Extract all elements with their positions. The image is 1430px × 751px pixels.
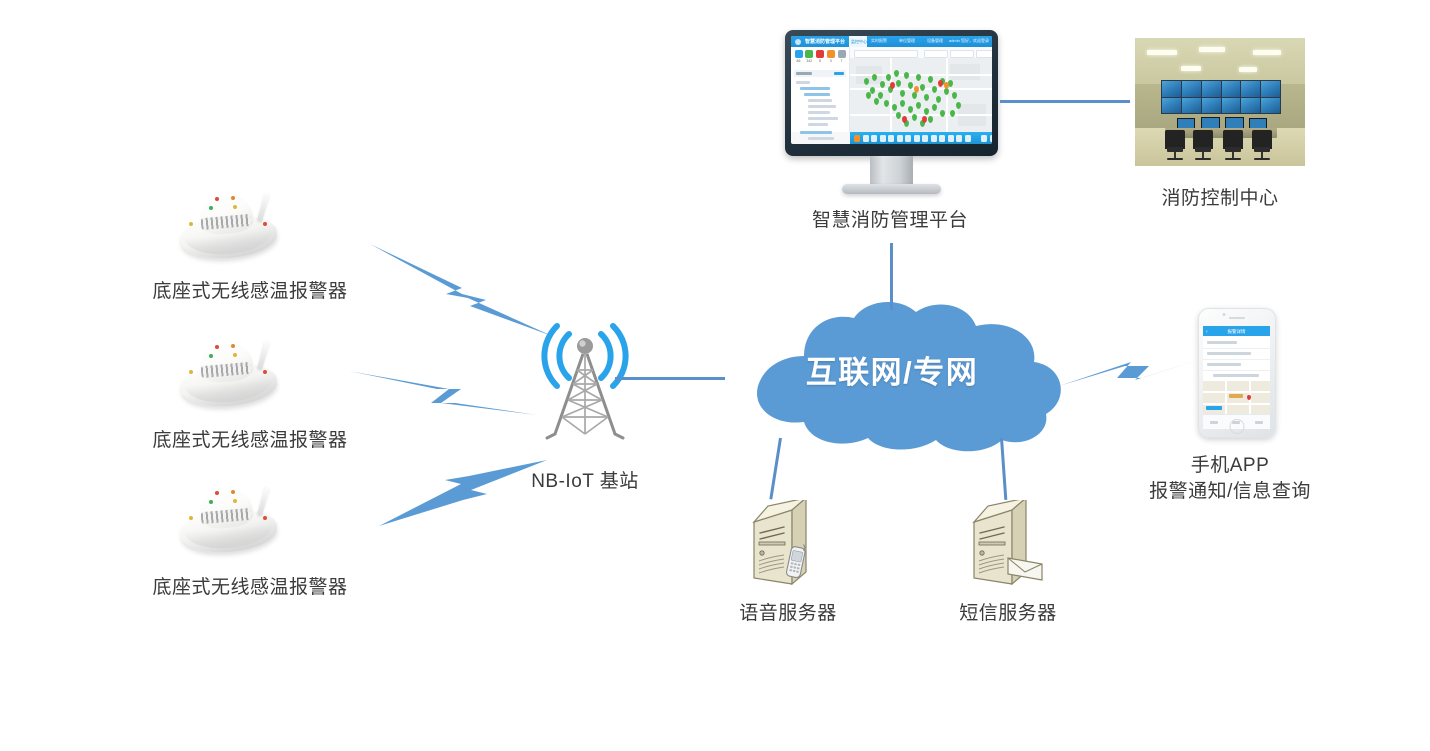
sensor-antenna-icon — [257, 192, 270, 222]
sms-server[interactable] — [968, 500, 1046, 592]
map-pin-normal[interactable] — [866, 92, 871, 99]
platform-stat-4[interactable]: 7 — [837, 50, 846, 66]
dock-icon[interactable] — [914, 135, 920, 142]
video-wall-screen — [1222, 81, 1241, 97]
ceiling-light — [1253, 50, 1281, 55]
chair-base — [1167, 158, 1183, 160]
map-road — [850, 114, 992, 116]
platform-app-title: 智慧消防管理平台 — [805, 38, 845, 45]
chair-back — [1165, 130, 1185, 149]
map-pin-normal[interactable] — [916, 102, 921, 109]
platform-tab-2[interactable]: 设备管理 — [927, 38, 943, 44]
sensor-led-orange — [231, 344, 235, 348]
platform-stat-value-0: 86 — [794, 59, 803, 63]
dock-icon[interactable] — [880, 135, 886, 142]
sensor-led-yellow-2 — [189, 516, 193, 520]
cell-tower-icon — [525, 318, 645, 448]
sensor-led-green — [209, 206, 213, 210]
tree-node[interactable] — [796, 81, 810, 84]
app-header: ‹ 报警详情 — [1203, 326, 1270, 336]
sensor-led-green — [209, 500, 213, 504]
stat-icon-offline — [838, 50, 846, 58]
map-highlight — [1229, 394, 1243, 398]
platform-map[interactable] — [850, 58, 992, 132]
map-pin-normal[interactable] — [932, 86, 937, 93]
video-wall-screen — [1202, 98, 1221, 114]
topology-diagram: 底座式无线感温报警器 底座式无线感温报警器 底座式无线感温报警器 — [0, 0, 1430, 751]
map-info-chip[interactable] — [1206, 406, 1222, 410]
map-pin-normal[interactable] — [936, 96, 941, 103]
phone-speaker — [1229, 317, 1245, 319]
map-pin-normal[interactable] — [908, 106, 913, 113]
app-header-title: 报警详情 — [1203, 329, 1270, 335]
sensor-led-yellow-2 — [189, 222, 193, 226]
voice-server-label: 语音服务器 — [668, 600, 908, 628]
map-pin-normal[interactable] — [892, 104, 897, 111]
office-chair — [1165, 130, 1185, 160]
platform-stat-value-1: 342 — [805, 59, 814, 63]
link-tower-to-cloud — [615, 377, 725, 380]
stat-icon-unit — [795, 50, 803, 58]
tree-node[interactable] — [800, 87, 830, 90]
sensor-antenna-icon — [257, 486, 270, 516]
dock-icon[interactable] — [956, 135, 962, 142]
control-center-label: 消防控制中心 — [1070, 185, 1370, 213]
platform-tab-active[interactable]: 监控中心 — [849, 36, 867, 47]
app-map[interactable] — [1203, 381, 1270, 415]
tree-node[interactable] — [800, 131, 832, 134]
sensor-led-orange — [231, 490, 235, 494]
map-pin-normal[interactable] — [884, 100, 889, 107]
voice-server[interactable] — [748, 500, 826, 592]
office-chair — [1252, 130, 1272, 160]
link-platform-to-control-center — [1000, 100, 1130, 103]
ceiling-light — [1199, 47, 1225, 52]
tree-node[interactable] — [804, 93, 830, 96]
map-road — [890, 58, 892, 132]
row-divider — [1203, 359, 1270, 360]
monitor-neck — [870, 156, 913, 186]
map-pin-normal[interactable] — [900, 100, 905, 107]
ceiling-light — [1239, 67, 1257, 72]
sensor-antenna-icon — [257, 340, 270, 370]
platform-search-input[interactable] — [854, 50, 918, 58]
map-pin-normal[interactable] — [916, 74, 921, 81]
sensor-led-yellow-2 — [189, 370, 193, 374]
monitor-stand — [842, 184, 941, 194]
map-pin-warning[interactable] — [914, 86, 919, 93]
phone-home-button[interactable] — [1230, 419, 1245, 434]
sensor-label-3: 底座式无线感温报警器 — [0, 574, 500, 602]
dock-icon[interactable] — [854, 135, 860, 142]
row-divider — [1203, 370, 1270, 371]
map-pin-normal[interactable] — [896, 112, 901, 119]
voice-server-icon — [748, 500, 826, 592]
stat-icon-alarm — [816, 50, 824, 58]
wireless-link-bolt-4 — [1057, 352, 1207, 400]
video-wall-screen — [1182, 98, 1201, 114]
map-pin-alarm[interactable] — [938, 80, 943, 87]
app-tab-home[interactable] — [1210, 421, 1218, 424]
chair-base — [1225, 158, 1241, 160]
map-pin-normal[interactable] — [928, 76, 933, 83]
dock-icon[interactable] — [939, 135, 945, 142]
internet-cloud[interactable]: 互联网/专网 — [712, 300, 1072, 452]
dock-icon[interactable] — [922, 135, 928, 142]
map-road — [1203, 403, 1270, 405]
platform-filter-2[interactable] — [976, 50, 992, 58]
platform-tree-header — [794, 70, 846, 77]
sensor-led-yellow — [233, 499, 237, 503]
sensor-led-yellow — [233, 205, 237, 209]
sensor-led-yellow — [233, 353, 237, 357]
mobile-phone[interactable]: ‹ 报警详情 — [1198, 308, 1276, 438]
map-pin-alarm[interactable] — [922, 116, 927, 123]
tree-node[interactable] — [808, 111, 830, 114]
chair-base — [1195, 158, 1211, 160]
map-pin-normal[interactable] — [880, 81, 885, 88]
platform-tab-1[interactable]: 单位管理 — [899, 38, 915, 44]
cloud-label: 互联网/专网 — [712, 347, 1072, 392]
video-wall-screen — [1202, 81, 1221, 97]
wireless-link-bolt-2 — [345, 361, 540, 417]
sensor-led-red — [215, 491, 219, 495]
detail-row-1 — [1207, 352, 1251, 355]
office-chair — [1223, 130, 1243, 160]
map-pin-normal[interactable] — [894, 70, 899, 77]
platform-stat-value-2: 5 — [816, 59, 825, 63]
ceiling-light — [1147, 50, 1177, 55]
mobile-label-line1: 手机APP — [1105, 452, 1355, 480]
platform-stat-0[interactable]: 86 — [794, 50, 803, 66]
video-wall — [1161, 80, 1281, 114]
detail-row-2 — [1207, 363, 1241, 366]
dock-icon[interactable] — [981, 135, 987, 142]
map-pin-normal[interactable] — [878, 92, 883, 99]
row-divider — [1203, 348, 1270, 349]
platform-topbar: 智慧消防管理平台 监控中心 实时报警 单位管理 设备管理 统计分析 admin … — [791, 36, 992, 47]
map-pin-normal[interactable] — [924, 94, 929, 101]
control-center-photo[interactable] — [1135, 38, 1305, 166]
chair-base — [1254, 158, 1270, 160]
base-station-tower[interactable] — [525, 318, 645, 448]
platform-filter-0[interactable] — [924, 50, 948, 58]
platform-filter-1[interactable] — [950, 50, 974, 58]
map-pin-normal[interactable] — [944, 88, 949, 95]
sensor-led-green — [209, 354, 213, 358]
stat-icon-device — [805, 50, 813, 58]
platform-stat-2[interactable]: 5 — [816, 50, 825, 66]
dock-icon[interactable] — [863, 135, 869, 142]
sensor-led-red-2 — [263, 516, 267, 520]
base-station-label: NB-IoT 基站 — [455, 468, 715, 496]
map-pin-normal[interactable] — [952, 92, 957, 99]
map-pin-normal[interactable] — [874, 98, 879, 105]
mobile-label-line2: 报警通知/信息查询 — [1105, 478, 1355, 506]
map-pin-normal[interactable] — [900, 90, 905, 97]
map-pin-normal[interactable] — [904, 72, 909, 79]
control-room-scene — [1135, 38, 1305, 166]
tree-node[interactable] — [808, 117, 838, 120]
ceiling-light — [1181, 66, 1201, 71]
office-chair — [1193, 130, 1213, 160]
sensor-device-1[interactable] — [175, 186, 295, 264]
dock-icon[interactable] — [948, 135, 954, 142]
video-wall-screen — [1261, 81, 1280, 97]
map-pin-normal[interactable] — [928, 116, 933, 123]
map-road — [1203, 391, 1270, 393]
map-block — [950, 64, 980, 80]
sensor-led-red — [215, 345, 219, 349]
platform-stat-3[interactable]: 3 — [826, 50, 835, 66]
sensor-led-red — [215, 197, 219, 201]
phone-camera-icon — [1223, 313, 1226, 316]
chair-back — [1252, 130, 1272, 149]
video-wall-screen — [1182, 81, 1201, 97]
map-road — [946, 58, 948, 132]
map-pin-normal[interactable] — [896, 80, 901, 87]
sensor-led-red-2 — [263, 370, 267, 374]
map-pin-normal[interactable] — [932, 104, 937, 111]
dock-icon[interactable] — [905, 135, 911, 142]
map-pin-normal[interactable] — [912, 114, 917, 121]
platform-stat-value-4: 7 — [837, 59, 846, 63]
tree-node[interactable] — [808, 123, 828, 126]
sensor-device-3[interactable] — [175, 480, 295, 558]
chair-back — [1223, 130, 1243, 149]
platform-logo-icon — [795, 39, 801, 45]
dock-icon[interactable] — [871, 135, 877, 142]
platform-user-label: admin 您好，欢迎登录 — [949, 38, 989, 44]
sensor-device-2[interactable] — [175, 334, 295, 412]
platform-tab-active-label: 监控中心 — [851, 39, 867, 45]
platform-sidebar: 86 342 5 3 7 — [791, 47, 850, 132]
platform-stat-value-3: 3 — [826, 59, 835, 63]
sms-server-icon — [968, 500, 1046, 592]
platform-monitor[interactable]: 智慧消防管理平台 监控中心 实时报警 单位管理 设备管理 统计分析 admin … — [785, 30, 998, 196]
tree-node[interactable] — [808, 99, 832, 102]
tree-title-bar — [796, 72, 812, 75]
phone-screen[interactable]: ‹ 报警详情 — [1203, 326, 1270, 429]
detail-row-0 — [1207, 341, 1237, 344]
tree-action-bar — [834, 72, 844, 75]
sms-server-label: 短信服务器 — [888, 600, 1128, 628]
dock-icon[interactable] — [990, 135, 992, 142]
platform-stat-1[interactable]: 342 — [805, 50, 814, 66]
video-wall-screen — [1261, 98, 1280, 114]
platform-tab-0[interactable]: 实时报警 — [871, 38, 887, 44]
tree-node[interactable] — [808, 105, 836, 108]
sensor-led-orange — [231, 196, 235, 200]
sensor-label-2: 底座式无线感温报警器 — [0, 427, 500, 455]
platform-stats-row: 86 342 5 3 7 — [794, 50, 846, 66]
video-wall-screen — [1162, 81, 1181, 97]
map-pin-normal[interactable] — [912, 92, 917, 99]
video-wall-screen — [1241, 98, 1260, 114]
video-wall-screen — [1162, 98, 1181, 114]
dock-icon[interactable] — [888, 135, 894, 142]
detail-row-3 — [1213, 374, 1259, 377]
map-road — [1225, 381, 1227, 415]
platform-dock — [850, 132, 992, 144]
sensor-led-red-2 — [263, 222, 267, 226]
chair-back — [1193, 130, 1213, 149]
stat-icon-fault — [827, 50, 835, 58]
link-cloud-to-platform — [890, 243, 893, 310]
dock-icon[interactable] — [897, 135, 903, 142]
app-tab-mine[interactable] — [1255, 421, 1263, 424]
dock-icon[interactable] — [965, 135, 971, 142]
video-wall-screen — [1241, 81, 1260, 97]
monitor-screen[interactable]: 智慧消防管理平台 监控中心 实时报警 单位管理 设备管理 统计分析 admin … — [791, 36, 992, 144]
dock-icon[interactable] — [931, 135, 937, 142]
video-wall-screen — [1222, 98, 1241, 114]
tree-node[interactable] — [808, 137, 834, 140]
platform-label: 智慧消防管理平台 — [690, 207, 1090, 235]
